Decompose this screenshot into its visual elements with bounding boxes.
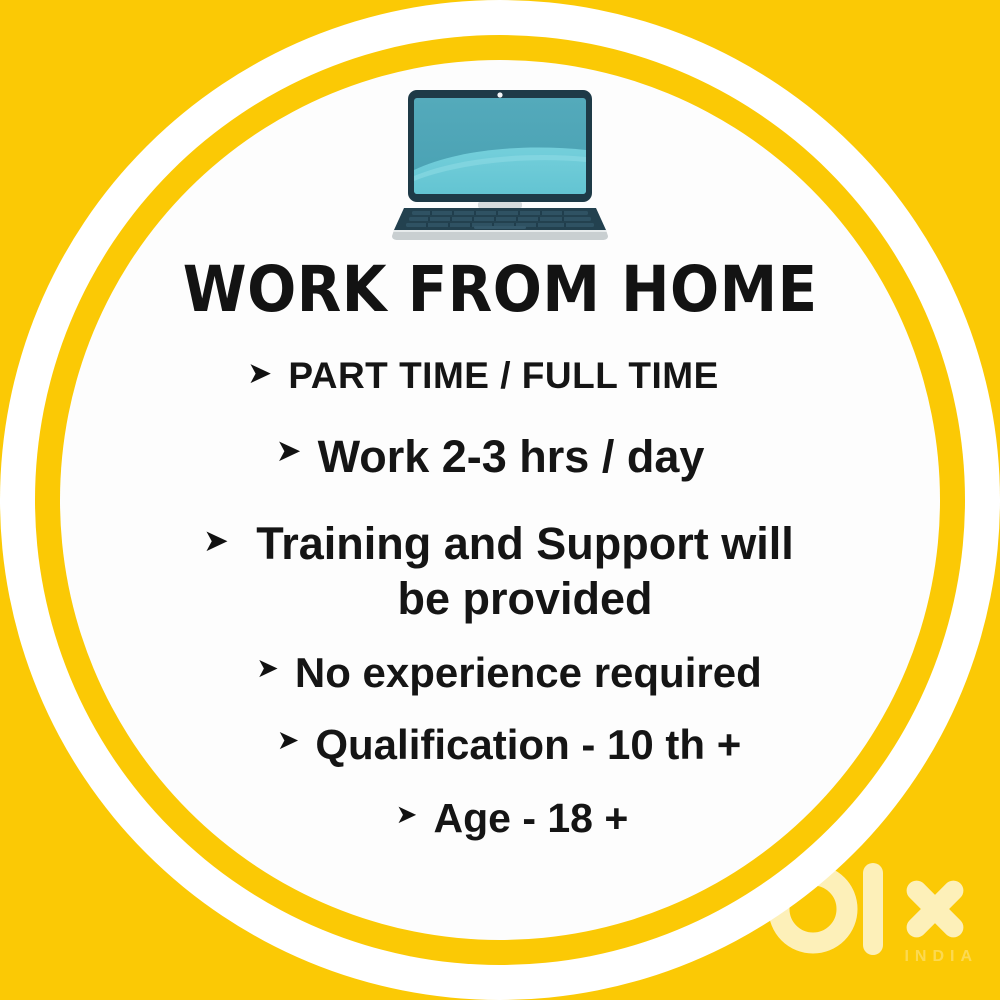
list-item: ➤ PART TIME / FULL TIME (103, 355, 897, 397)
olx-watermark-region: INDIA (904, 948, 978, 966)
poster-content: WORK FROM HOME ➤ PART TIME / FULL TIME ➤… (0, 0, 1000, 1000)
arrow-bullet-icon: ➤ (277, 727, 300, 754)
list-item: ➤ Training and Support will be provided (116, 517, 884, 627)
list-item: ➤ Work 2-3 hrs / day (110, 431, 890, 483)
benefits-list: ➤ PART TIME / FULL TIME ➤ Work 2-3 hrs /… (120, 351, 880, 842)
list-item: ➤ Qualification - 10 th + (111, 721, 889, 769)
list-item-label: Qualification - 10 th + (315, 721, 741, 769)
arrow-bullet-icon: ➤ (256, 655, 279, 682)
list-item-label: Work 2-3 hrs / day (318, 431, 705, 483)
list-item: ➤ No experience required (111, 649, 889, 697)
arrow-bullet-icon: ➤ (396, 801, 418, 827)
arrow-bullet-icon: ➤ (276, 435, 302, 466)
list-item: ➤ Age - 18 + (108, 795, 892, 842)
poster-canvas: WORK FROM HOME ➤ PART TIME / FULL TIME ➤… (0, 0, 1000, 1000)
arrow-bullet-icon: ➤ (203, 525, 229, 556)
list-item-label: PART TIME / FULL TIME (288, 355, 719, 397)
arrow-bullet-icon: ➤ (247, 359, 272, 389)
list-item-label: No experience required (295, 649, 762, 697)
page-title: WORK FROM HOME (183, 258, 818, 321)
list-item-label: Training and Support will be provided (245, 517, 805, 627)
list-item-label: Age - 18 + (433, 795, 628, 842)
laptop-icon (390, 84, 610, 244)
